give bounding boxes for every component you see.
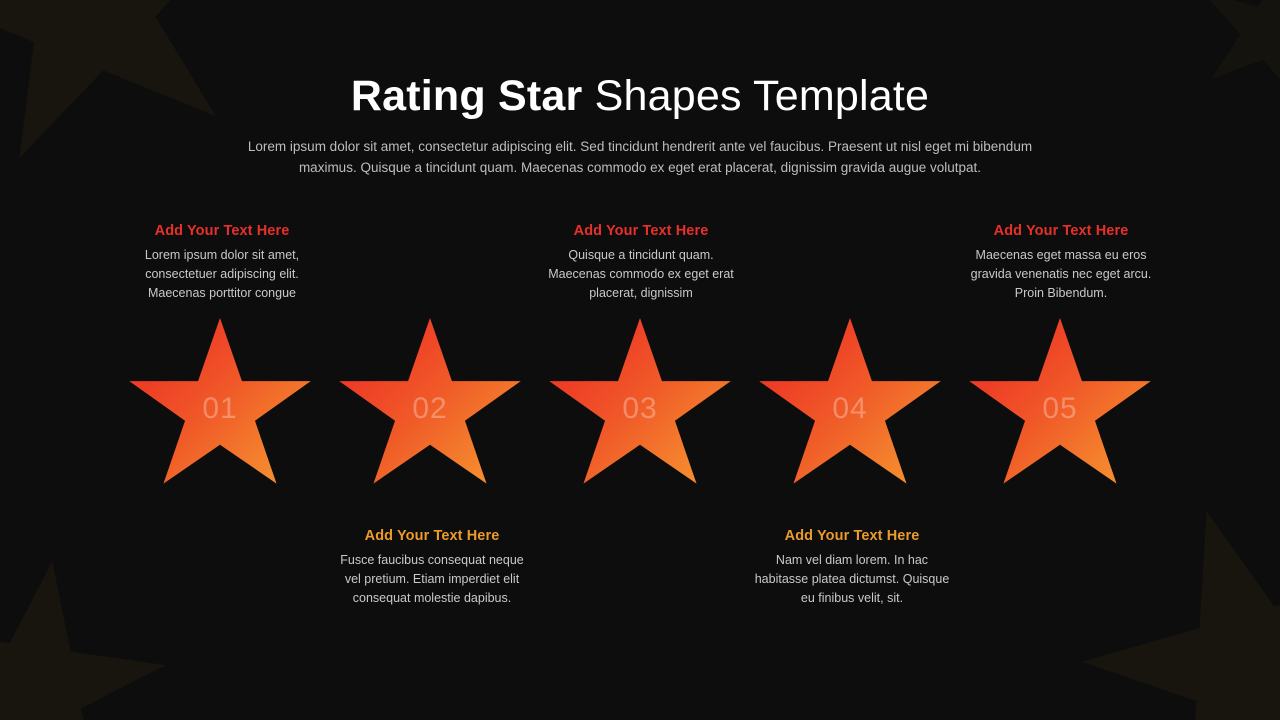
star-number: 03 xyxy=(547,392,733,426)
page-title: Rating Star Shapes Template xyxy=(0,70,1280,122)
star-row: 01 02 03 04 05 xyxy=(0,318,1280,508)
caption-title: Add Your Text Here xyxy=(541,221,741,241)
slide-canvas: Rating Star Shapes Template Lorem ipsum … xyxy=(0,0,1280,720)
slide-header: Rating Star Shapes Template Lorem ipsum … xyxy=(0,0,1280,178)
caption-top-2: Add Your Text Here Quisque a tincidunt q… xyxy=(541,221,741,303)
caption-title: Add Your Text Here xyxy=(122,221,322,241)
caption-title: Add Your Text Here xyxy=(332,526,532,546)
caption-title: Add Your Text Here xyxy=(752,526,952,546)
star-icon: 03 xyxy=(547,318,733,498)
caption-top-3: Add Your Text Here Maecenas eget massa e… xyxy=(961,221,1161,303)
page-title-rest: Shapes Template xyxy=(582,72,929,120)
star-item-01[interactable]: 01 xyxy=(125,318,315,503)
star-number: 05 xyxy=(967,392,1153,426)
caption-body: Nam vel diam lorem. In hac habitasse pla… xyxy=(752,551,952,608)
caption-body: Quisque a tincidunt quam. Maecenas commo… xyxy=(541,246,741,303)
caption-body: Maecenas eget massa eu eros gravida vene… xyxy=(961,246,1161,303)
star-number: 02 xyxy=(337,392,523,426)
caption-body: Fusce faucibus consequat neque vel preti… xyxy=(332,551,532,608)
caption-bottom-2: Add Your Text Here Nam vel diam lorem. I… xyxy=(752,526,952,608)
star-icon: 04 xyxy=(757,318,943,498)
star-number: 01 xyxy=(127,392,313,426)
caption-top-1: Add Your Text Here Lorem ipsum dolor sit… xyxy=(122,221,322,303)
star-icon: 05 xyxy=(967,318,1153,498)
star-icon: 02 xyxy=(337,318,523,498)
page-title-strong: Rating Star xyxy=(351,72,583,120)
star-icon: 01 xyxy=(127,318,313,498)
star-item-05[interactable]: 05 xyxy=(965,318,1155,503)
star-item-04[interactable]: 04 xyxy=(755,318,945,503)
page-subtitle: Lorem ipsum dolor sit amet, consectetur … xyxy=(240,136,1040,178)
caption-bottom-1: Add Your Text Here Fusce faucibus conseq… xyxy=(332,526,532,608)
caption-body: Lorem ipsum dolor sit amet, consectetuer… xyxy=(122,246,322,303)
background-star-icon-bottom-left xyxy=(0,543,181,720)
star-item-03[interactable]: 03 xyxy=(545,318,735,503)
caption-title: Add Your Text Here xyxy=(961,221,1161,241)
star-number: 04 xyxy=(757,392,943,426)
star-item-02[interactable]: 02 xyxy=(335,318,525,503)
